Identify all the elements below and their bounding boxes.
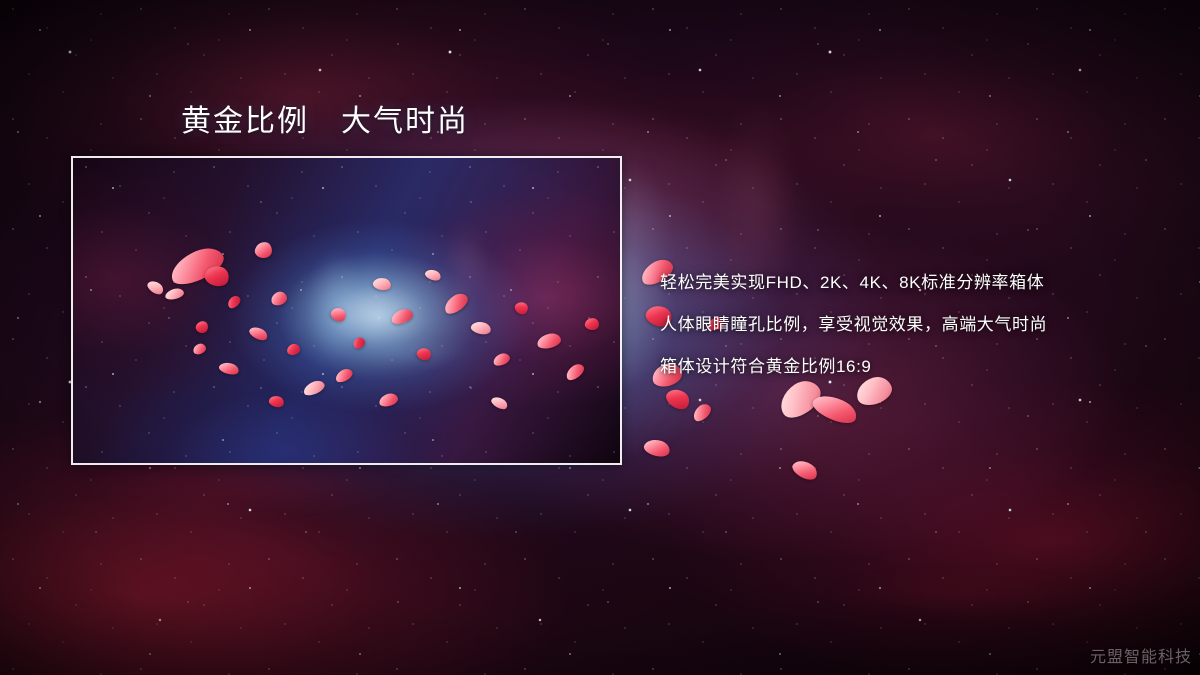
framed-image	[71, 156, 622, 465]
slide-title: 黄金比例 大气时尚	[181, 104, 469, 140]
presentation-slide: 黄金比例 大气时尚	[0, 0, 1200, 675]
petal	[690, 401, 714, 424]
body-text-block: 轻松完美实现FHD、2K、4K、8K标准分辨率箱体 人体眼睛瞳孔比例，享受视觉效…	[660, 262, 1047, 388]
body-line-2: 人体眼睛瞳孔比例，享受视觉效果，高端大气时尚	[660, 304, 1047, 346]
petal	[790, 457, 821, 484]
body-line-3: 箱体设计符合黄金比例16:9	[660, 346, 1047, 388]
petal	[642, 437, 671, 460]
watermark: 元盟智能科技	[1090, 643, 1192, 667]
framed-nebula-wisps	[73, 158, 620, 463]
framed-image-content	[73, 158, 620, 463]
petal	[663, 385, 693, 413]
petal	[810, 390, 861, 429]
body-line-1: 轻松完美实现FHD、2K、4K、8K标准分辨率箱体	[660, 262, 1047, 304]
